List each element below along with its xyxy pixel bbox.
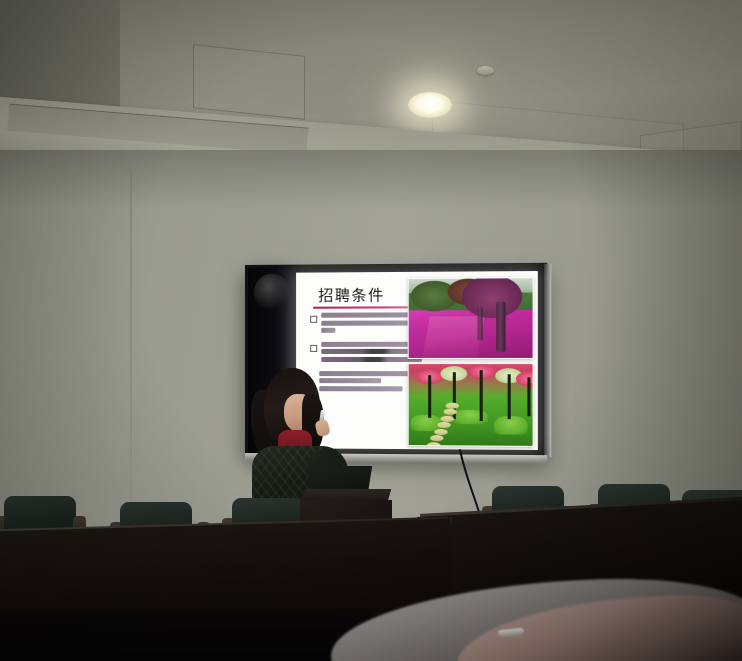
- slide-photo-park-path: [408, 277, 534, 359]
- ceiling-downlight: [408, 92, 452, 118]
- tv-reflection: [254, 274, 290, 310]
- hollow-square-icon: [310, 345, 317, 352]
- slide-title: 招聘条件: [318, 284, 385, 306]
- wall-seam: [130, 170, 132, 500]
- conference-room-photo: 招聘条件: [0, 0, 742, 661]
- ceiling-access-panel: [193, 44, 305, 120]
- slide-photo-garden: [408, 363, 534, 447]
- hollow-square-icon: [310, 316, 317, 323]
- tv-right-frame: [544, 264, 551, 457]
- foreground-shadow: [0, 612, 370, 661]
- smoke-detector-icon: [477, 66, 494, 75]
